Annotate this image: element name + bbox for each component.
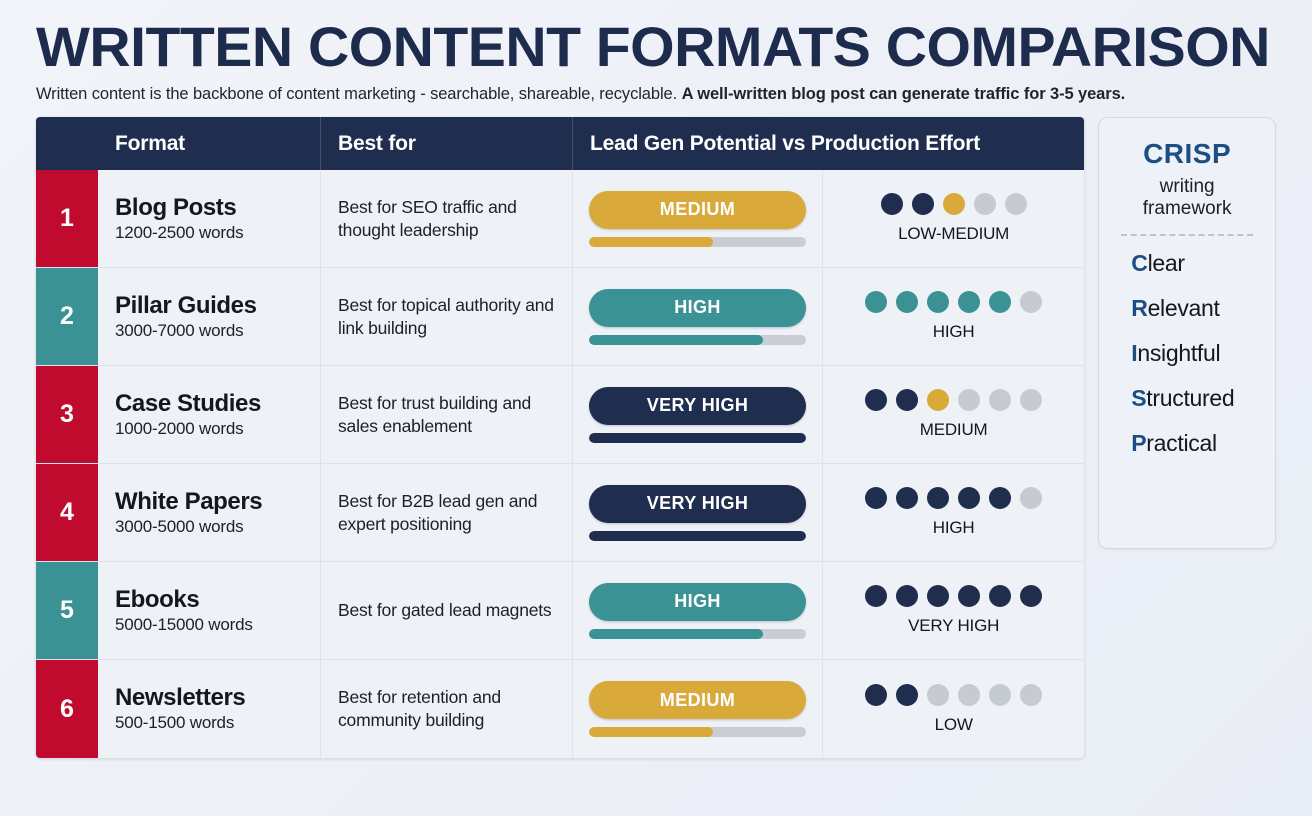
effort-dot xyxy=(896,684,918,706)
production-effort-fill xyxy=(589,335,763,345)
production-effort-track xyxy=(589,433,806,443)
row-number-badge: 3 xyxy=(36,366,98,463)
effort-dot xyxy=(927,291,949,313)
table-body: 1Blog Posts1200-2500 wordsBest for SEO t… xyxy=(36,170,1084,758)
lead-gen-pill: MEDIUM xyxy=(589,191,806,229)
effort-rating-label: MEDIUM xyxy=(920,420,988,440)
effort-rating-label: VERY HIGH xyxy=(908,616,999,636)
effort-dot xyxy=(927,389,949,411)
effort-dot xyxy=(958,585,980,607)
crisp-item: Practical xyxy=(1113,430,1261,457)
effort-rating-cell: LOW-MEDIUM xyxy=(822,170,1084,267)
format-word-count: 500-1500 words xyxy=(115,713,320,733)
format-word-count: 3000-7000 words xyxy=(115,321,320,341)
format-cell: Blog Posts1200-2500 words xyxy=(98,170,320,267)
crisp-item-text: ractical xyxy=(1146,430,1216,456)
lead-gen-pill: HIGH xyxy=(589,583,806,621)
crisp-item-text: elevant xyxy=(1148,295,1220,321)
lead-gen-pill: VERY HIGH xyxy=(589,485,806,523)
effort-dot xyxy=(1005,193,1027,215)
format-name: Pillar Guides xyxy=(115,293,320,319)
crisp-item-initial: C xyxy=(1131,250,1147,276)
effort-dot-group xyxy=(881,193,1027,215)
crisp-item-initial: P xyxy=(1131,430,1146,456)
production-effort-fill xyxy=(589,531,806,541)
effort-dot xyxy=(958,487,980,509)
effort-dot xyxy=(974,193,996,215)
effort-rating-label: LOW xyxy=(935,715,973,735)
lead-gen-cell: VERY HIGH xyxy=(572,464,822,561)
effort-dot xyxy=(865,389,887,411)
header-cell-lead-gen: Lead Gen Potential vs Production Effort xyxy=(572,117,1084,170)
lead-gen-cell: VERY HIGH xyxy=(572,366,822,463)
effort-rating-cell: VERY HIGH xyxy=(822,562,1084,659)
crisp-item: Clear xyxy=(1113,250,1261,277)
format-word-count: 5000-15000 words xyxy=(115,615,320,635)
header-cell-format: Format xyxy=(98,132,320,156)
subtitle-highlight-text: A well-written blog post can generate tr… xyxy=(682,85,1126,103)
crisp-item: Relevant xyxy=(1113,295,1261,322)
crisp-framework-panel: CRISP writing framework ClearRelevantIns… xyxy=(1098,117,1276,549)
production-effort-track xyxy=(589,335,806,345)
best-for-cell: Best for trust building and sales enable… xyxy=(320,366,572,463)
effort-dot xyxy=(1020,487,1042,509)
effort-dot-group xyxy=(865,684,1042,706)
format-cell: Pillar Guides3000-7000 words xyxy=(98,268,320,365)
crisp-item-text: nsightful xyxy=(1137,340,1220,366)
production-effort-fill xyxy=(589,433,806,443)
best-for-cell: Best for SEO traffic and thought leaders… xyxy=(320,170,572,267)
table-row: 3Case Studies1000-2000 wordsBest for tru… xyxy=(36,366,1084,464)
production-effort-track xyxy=(589,629,806,639)
effort-dot xyxy=(927,487,949,509)
best-for-cell: Best for B2B lead gen and expert positio… xyxy=(320,464,572,561)
row-number-badge: 2 xyxy=(36,268,98,365)
effort-rating-label: LOW-MEDIUM xyxy=(898,224,1009,244)
crisp-item-initial: R xyxy=(1131,295,1147,321)
effort-dot xyxy=(865,291,887,313)
table-header-row: Format Best for Lead Gen Potential vs Pr… xyxy=(36,117,1084,170)
production-effort-fill xyxy=(589,629,763,639)
row-number-badge: 5 xyxy=(36,562,98,659)
effort-dot xyxy=(927,585,949,607)
format-cell: Case Studies1000-2000 words xyxy=(98,366,320,463)
table-row: 5Ebooks5000-15000 wordsBest for gated le… xyxy=(36,562,1084,660)
lead-gen-pill: HIGH xyxy=(589,289,806,327)
row-number-badge: 1 xyxy=(36,170,98,267)
effort-dot xyxy=(958,684,980,706)
effort-dot-group xyxy=(865,389,1042,411)
format-word-count: 1200-2500 words xyxy=(115,223,320,243)
format-cell: Newsletters500-1500 words xyxy=(98,660,320,758)
table-row: 1Blog Posts1200-2500 wordsBest for SEO t… xyxy=(36,170,1084,268)
effort-dot xyxy=(927,684,949,706)
crisp-subtitle: writing framework xyxy=(1113,176,1261,220)
crisp-item-list: ClearRelevantInsightfulStructuredPractic… xyxy=(1113,250,1261,457)
header-cell-best-for: Best for xyxy=(320,117,572,170)
lead-gen-cell: MEDIUM xyxy=(572,170,822,267)
format-name: Case Studies xyxy=(115,391,320,417)
effort-dot xyxy=(989,684,1011,706)
effort-dot xyxy=(989,389,1011,411)
production-effort-fill xyxy=(589,237,713,247)
crisp-item: Structured xyxy=(1113,385,1261,412)
effort-dot xyxy=(896,389,918,411)
lead-gen-cell: MEDIUM xyxy=(572,660,822,758)
effort-dot xyxy=(958,389,980,411)
production-effort-fill xyxy=(589,727,713,737)
effort-dot-group xyxy=(865,291,1042,313)
format-name: Ebooks xyxy=(115,587,320,613)
format-name: Blog Posts xyxy=(115,195,320,221)
subtitle-plain-text: Written content is the backbone of conte… xyxy=(36,85,682,103)
production-effort-track xyxy=(589,237,806,247)
effort-dot xyxy=(896,487,918,509)
lead-gen-cell: HIGH xyxy=(572,562,822,659)
format-name: Newsletters xyxy=(115,685,320,711)
effort-dot xyxy=(958,291,980,313)
lead-gen-pill: VERY HIGH xyxy=(589,387,806,425)
effort-dot-group xyxy=(865,585,1042,607)
best-for-cell: Best for retention and community buildin… xyxy=(320,660,572,758)
effort-dot xyxy=(989,487,1011,509)
effort-dot xyxy=(865,487,887,509)
content-area: Format Best for Lead Gen Potential vs Pr… xyxy=(36,117,1276,758)
effort-dot xyxy=(896,291,918,313)
effort-rating-cell: HIGH xyxy=(822,464,1084,561)
effort-dot xyxy=(881,193,903,215)
page-title: WRITTEN CONTENT FORMATS COMPARISON xyxy=(36,18,1301,76)
effort-dot xyxy=(1020,585,1042,607)
table-row: 2Pillar Guides3000-7000 wordsBest for to… xyxy=(36,268,1084,366)
lead-gen-pill: MEDIUM xyxy=(589,681,806,719)
best-for-cell: Best for gated lead magnets xyxy=(320,562,572,659)
format-word-count: 3000-5000 words xyxy=(115,517,320,537)
page-subtitle: Written content is the backbone of conte… xyxy=(36,85,1276,104)
crisp-item: Insightful xyxy=(1113,340,1261,367)
effort-rating-label: HIGH xyxy=(933,322,975,342)
format-word-count: 1000-2000 words xyxy=(115,419,320,439)
effort-rating-cell: HIGH xyxy=(822,268,1084,365)
effort-dot xyxy=(912,193,934,215)
effort-rating-cell: MEDIUM xyxy=(822,366,1084,463)
crisp-divider xyxy=(1121,234,1253,236)
effort-dot xyxy=(1020,389,1042,411)
row-number-badge: 4 xyxy=(36,464,98,561)
crisp-item-initial: S xyxy=(1131,385,1146,411)
effort-rating-cell: LOW xyxy=(822,660,1084,758)
format-cell: Ebooks5000-15000 words xyxy=(98,562,320,659)
production-effort-track xyxy=(589,531,806,541)
effort-dot xyxy=(865,684,887,706)
format-name: White Papers xyxy=(115,489,320,515)
effort-dot xyxy=(1020,684,1042,706)
effort-dot xyxy=(943,193,965,215)
row-number-badge: 6 xyxy=(36,660,98,758)
table-row: 4White Papers3000-5000 wordsBest for B2B… xyxy=(36,464,1084,562)
effort-dot xyxy=(989,585,1011,607)
lead-gen-cell: HIGH xyxy=(572,268,822,365)
crisp-title: CRISP xyxy=(1143,138,1231,170)
infographic-page: WRITTEN CONTENT FORMATS COMPARISON Writt… xyxy=(0,0,1312,816)
format-cell: White Papers3000-5000 words xyxy=(98,464,320,561)
effort-dot xyxy=(896,585,918,607)
table-row: 6Newsletters500-1500 wordsBest for reten… xyxy=(36,660,1084,758)
effort-dot-group xyxy=(865,487,1042,509)
crisp-item-text: tructured xyxy=(1146,385,1234,411)
best-for-cell: Best for topical authority and link buil… xyxy=(320,268,572,365)
crisp-item-text: lear xyxy=(1148,250,1185,276)
production-effort-track xyxy=(589,727,806,737)
effort-rating-label: HIGH xyxy=(933,518,975,538)
effort-dot xyxy=(989,291,1011,313)
effort-dot xyxy=(865,585,887,607)
effort-dot xyxy=(1020,291,1042,313)
comparison-table: Format Best for Lead Gen Potential vs Pr… xyxy=(36,117,1084,758)
